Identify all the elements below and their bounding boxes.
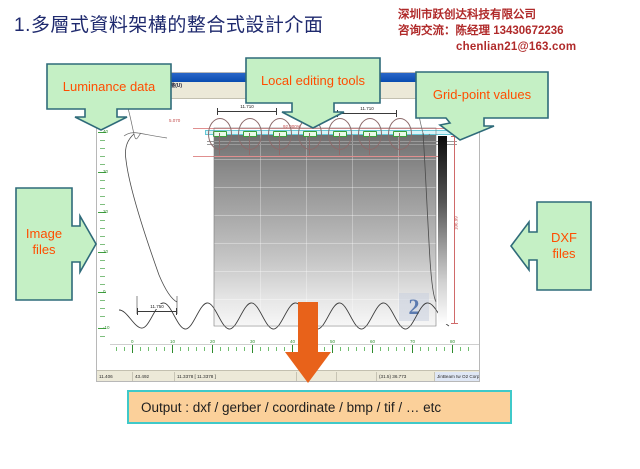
slide-canvas: 1.多層式資料架構的整合式設計介面 深圳市跃创达科技有限公司 咨询交流：陈经理 … bbox=[0, 0, 640, 469]
height-dimension: 106.99 bbox=[454, 136, 455, 324]
status-cell-blank2 bbox=[337, 372, 377, 381]
output-formats-box: Output : dxf / gerber / coordinate / bmp… bbox=[127, 390, 512, 424]
height-dimension-value: 106.99 bbox=[454, 216, 459, 230]
pitch-dimension-bottom: 11.750 bbox=[137, 308, 177, 314]
hruler-label: 30 bbox=[250, 339, 255, 344]
hruler-label: 0 bbox=[131, 339, 134, 344]
grid-point-chip[interactable] bbox=[213, 131, 227, 137]
luminance-curve-falloff bbox=[125, 134, 177, 302]
company-info: 深圳市跃创达科技有限公司 咨询交流：陈经理 13430672236 chenli… bbox=[398, 7, 638, 55]
callout-image-files-label-line1: Image bbox=[26, 226, 62, 241]
page-title: 1.多層式資料架構的整合式設計介面 bbox=[14, 10, 323, 37]
grid-point-tick bbox=[339, 133, 340, 155]
hruler-label: 10 bbox=[170, 339, 175, 344]
status-cell-y: 43.492 bbox=[133, 372, 175, 381]
luminance-curve-tail bbox=[124, 133, 167, 138]
guide-line-red bbox=[193, 156, 443, 157]
output-flow-arrow bbox=[284, 302, 332, 384]
status-cell-coords: (31.5) 36.773 bbox=[377, 372, 435, 381]
status-cell-x: 11.406 bbox=[97, 372, 133, 381]
company-name: 深圳市跃创达科技有限公司 bbox=[398, 7, 638, 23]
grid-point-tick bbox=[249, 133, 250, 155]
callout-dxf-files-shape bbox=[511, 202, 591, 290]
pitch-bottom-value: 11.750 bbox=[149, 304, 164, 309]
status-cell-vendor: JinBeam tw O2 Corp. bbox=[435, 372, 479, 381]
callout-dxf-files-label-line1: DXF bbox=[551, 230, 577, 245]
hruler-label: 70 bbox=[410, 339, 415, 344]
hruler-label: 60 bbox=[370, 339, 375, 344]
vruler-label: 30 bbox=[103, 169, 108, 174]
callout-luminance-shape bbox=[47, 64, 171, 130]
status-cell-value: 11.3378 [ 11.3378 ] bbox=[175, 372, 297, 381]
vruler-label: 20 bbox=[103, 209, 108, 214]
luminance-gradient-bar bbox=[438, 136, 447, 324]
callout-local-editing-tools[interactable]: Local editing tools bbox=[244, 56, 384, 132]
vruler-label: -10 bbox=[103, 325, 110, 330]
grid-point-tick bbox=[279, 133, 280, 155]
callout-grid-point-values[interactable]: Grid-point values bbox=[414, 70, 554, 142]
callout-local-editing-shape bbox=[246, 58, 380, 128]
company-email: chenlian21@163.com bbox=[398, 39, 638, 55]
grid-point-tick bbox=[399, 133, 400, 155]
vruler-label: 10 bbox=[103, 249, 108, 254]
grid-point-chip[interactable] bbox=[393, 131, 407, 137]
callout-grid-point-shape bbox=[416, 72, 548, 140]
output-arrow-shape bbox=[285, 302, 331, 383]
callout-grid-point-label: Grid-point values bbox=[433, 87, 532, 102]
hruler-label: 20 bbox=[210, 339, 215, 344]
company-contact: 咨询交流：陈经理 13430672236 bbox=[398, 23, 638, 39]
callout-local-editing-label: Local editing tools bbox=[261, 73, 366, 88]
callout-luminance-data[interactable]: Luminance data bbox=[45, 62, 175, 132]
grid-point-tick bbox=[309, 133, 310, 155]
output-formats-label: Output : dxf / gerber / coordinate / bmp… bbox=[141, 400, 441, 415]
callout-image-files-label-line2: files bbox=[32, 242, 56, 257]
callout-image-files[interactable]: Image files bbox=[14, 186, 98, 302]
grid-point-tick bbox=[219, 133, 220, 155]
watermark-logo: 2 bbox=[399, 293, 429, 321]
callout-dxf-files-label-line2: files bbox=[552, 246, 576, 261]
callout-dxf-files[interactable]: DXF files bbox=[509, 200, 593, 292]
hruler-label: 80 bbox=[450, 339, 455, 344]
callout-luminance-label: Luminance data bbox=[63, 79, 156, 94]
vruler-label: 0 bbox=[103, 289, 106, 294]
vertical-ruler[interactable]: 40 30 20 10 0 -10 bbox=[97, 100, 110, 365]
callout-image-files-shape bbox=[16, 188, 96, 300]
grid-point-tick bbox=[369, 133, 370, 155]
